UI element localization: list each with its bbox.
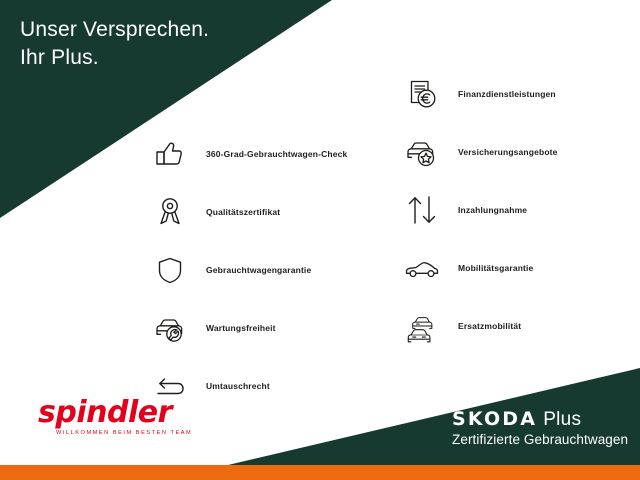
feature-item: 360-Grad-Gebrauchtwagen-Check xyxy=(148,128,378,180)
feature-label: 360-Grad-Gebrauchtwagen-Check xyxy=(206,149,347,160)
feature-item: Qualitätszertifikat xyxy=(148,186,378,238)
feature-label: Versicherungsangebote xyxy=(458,147,558,158)
quality-rosette-icon xyxy=(148,190,192,234)
up-down-arrows-icon xyxy=(400,188,444,232)
shield-icon xyxy=(148,248,192,292)
promo-banner: Unser Versprechen. Ihr Plus. 360-Grad-Ge… xyxy=(0,0,640,480)
spindler-wordmark: spindler xyxy=(38,398,208,428)
skoda-brandmark: SKODA xyxy=(452,408,537,430)
feature-list-right: Finanzdienstleistungen Versicherungsange… xyxy=(400,68,638,358)
skoda-subtitle: Zertifizierte Gebrauchtwagen xyxy=(452,432,628,447)
feature-item: Wartungsfreiheit xyxy=(148,302,378,354)
sports-car-icon xyxy=(400,246,444,290)
car-star-icon xyxy=(400,130,444,174)
feature-label: Finanzdienstleistungen xyxy=(458,89,556,100)
feature-item: Versicherungsangebote xyxy=(400,126,638,178)
feature-item: Gebrauchtwagengarantie xyxy=(148,244,378,296)
feature-item: Inzahlungnahme xyxy=(400,184,638,236)
headline-line-1: Unser Versprechen. xyxy=(20,16,209,44)
feature-label: Mobilitätsgarantie xyxy=(458,263,533,274)
thumbs-up-icon xyxy=(148,132,192,176)
feature-item: Mobilitätsgarantie xyxy=(400,242,638,294)
spindler-tagline: WILLKOMMEN BEIM BESTEN TEAM xyxy=(56,430,208,436)
spindler-logo: spindler WILLKOMMEN BEIM BESTEN TEAM xyxy=(38,398,208,436)
document-euro-icon xyxy=(400,72,444,116)
feature-label: Gebrauchtwagengarantie xyxy=(206,265,311,276)
feature-label: Qualitätszertifikat xyxy=(206,207,280,218)
feature-label: Umtauschrecht xyxy=(206,381,270,392)
orange-bottom-bar xyxy=(0,465,640,480)
feature-item: Finanzdienstleistungen xyxy=(400,68,638,120)
headline-line-2: Ihr Plus. xyxy=(20,44,209,72)
car-wrench-icon xyxy=(148,306,192,350)
headline: Unser Versprechen. Ihr Plus. xyxy=(20,16,209,72)
skoda-logo-line-1: SKODAPlus xyxy=(452,408,628,431)
feature-label: Inzahlungnahme xyxy=(458,205,527,216)
feature-label: Ersatzmobilität xyxy=(458,321,521,332)
skoda-plus-label: Plus xyxy=(543,409,581,430)
two-cars-icon xyxy=(400,304,444,348)
feature-list-left: 360-Grad-Gebrauchtwagen-Check Qualitätsz… xyxy=(148,128,378,418)
skoda-plus-logo: SKODAPlus Zertifizierte Gebrauchtwagen xyxy=(452,408,628,447)
feature-label: Wartungsfreiheit xyxy=(206,323,276,334)
feature-item: Ersatzmobilität xyxy=(400,300,638,352)
